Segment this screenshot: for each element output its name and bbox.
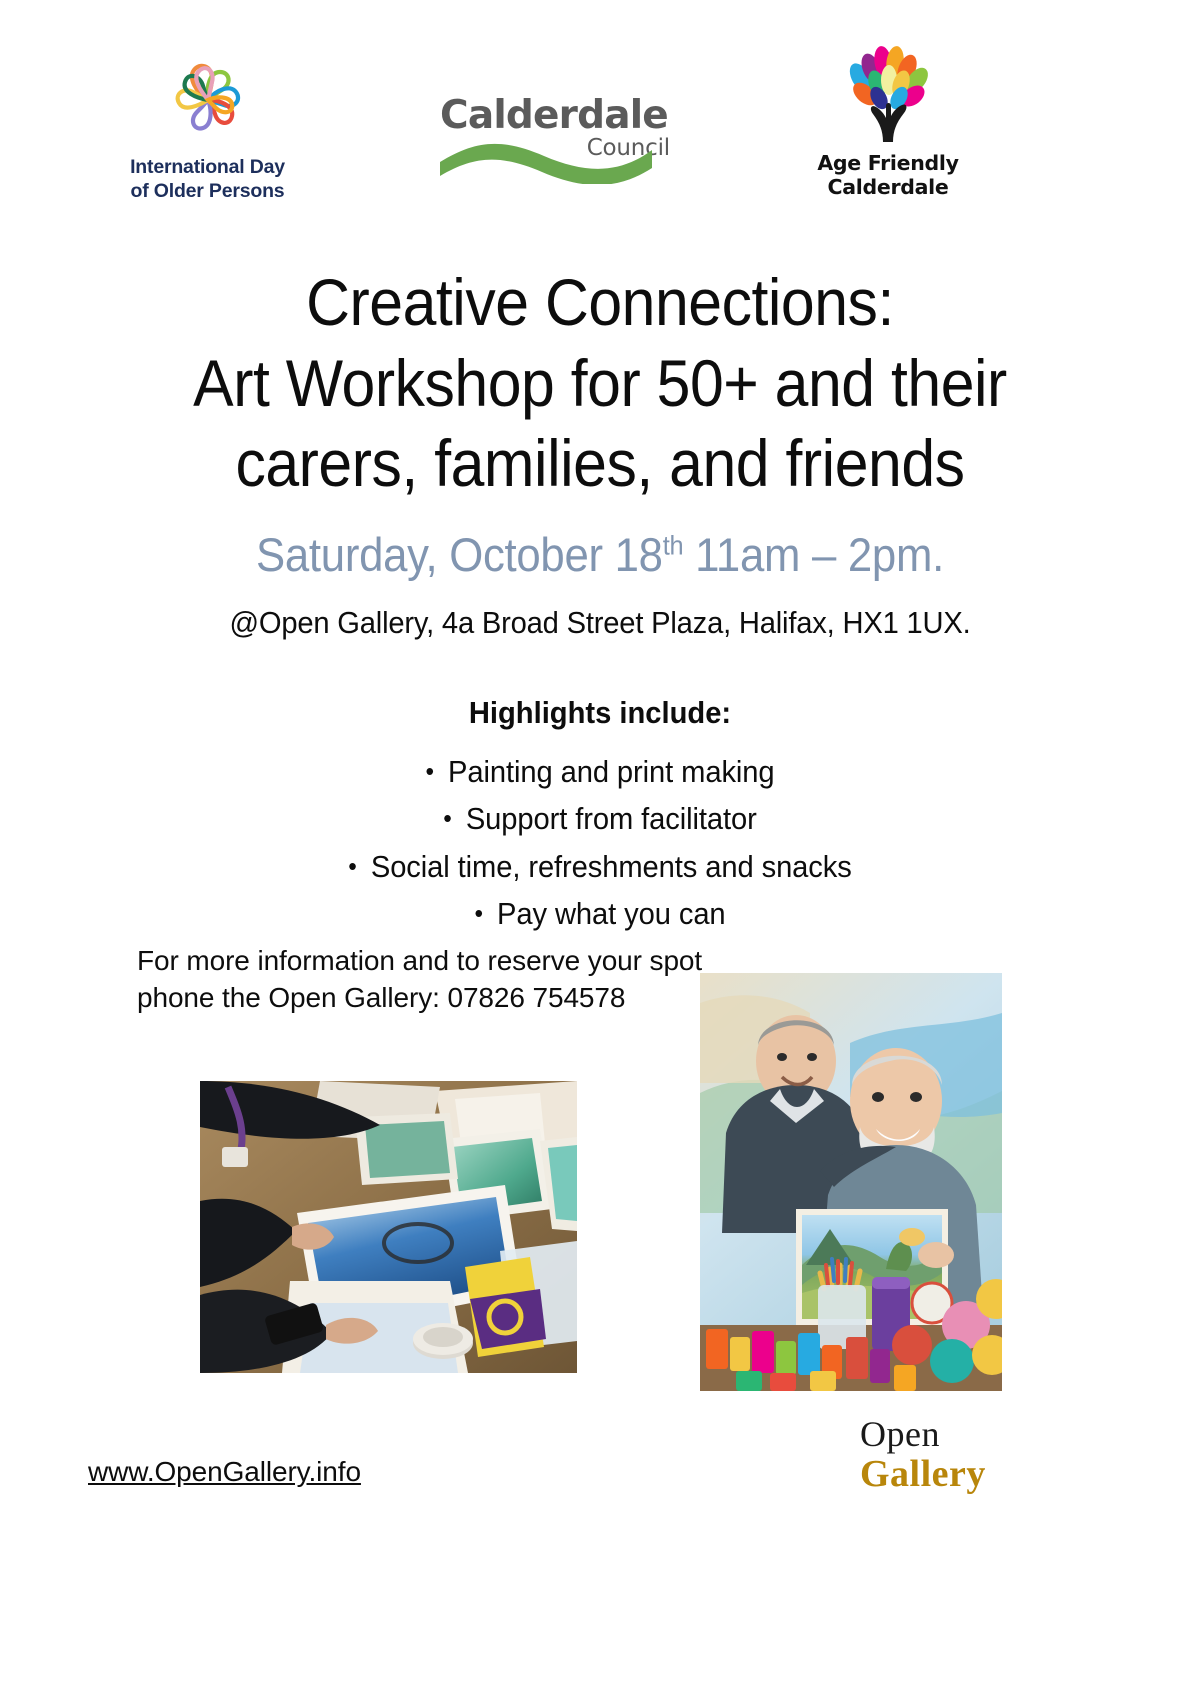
petal-flower-icon [158, 52, 258, 148]
event-dateline: Saturday, October 18th 11am – 2pm. [98, 527, 1102, 582]
logo-row: International Day of Older Persons Calde… [0, 44, 1200, 209]
highlights-heading: Highlights include: [92, 695, 1107, 731]
list-item: •Pay what you can [92, 890, 1107, 937]
title-line-1: Creative Connections: [103, 262, 1097, 343]
two-men-with-landscape-painting-photo [700, 973, 1002, 1391]
title-line-3: carers, families, and friends [103, 423, 1097, 504]
international-day-of-older-persons-logo: International Day of Older Persons [105, 52, 310, 204]
bullet-icon: • [348, 847, 356, 887]
list-item: •Support from facilitator [92, 795, 1107, 842]
list-item: •Painting and print making [92, 748, 1107, 795]
list-item-label: Pay what you can [497, 896, 726, 931]
contact-info: For more information and to reserve your… [137, 942, 737, 1016]
colorful-tree-icon [833, 44, 943, 148]
calderdale-council-logo: Calderdale Council [440, 96, 670, 161]
website-url-link[interactable]: www.OpenGallery.info [88, 1456, 361, 1488]
printmaking-workshop-photo [200, 1081, 577, 1373]
dateline-ordinal: th [663, 529, 684, 560]
event-venue-address: @Open Gallery, 4a Broad Street Plaza, Ha… [92, 605, 1107, 641]
list-item-label: Social time, refreshments and snacks [371, 849, 852, 884]
age-friendly-calderdale-logo: Age Friendly Calderdale [808, 44, 968, 199]
afc-label-line1: Age Friendly [808, 152, 968, 176]
page-title: Creative Connections: Art Workshop for 5… [103, 262, 1097, 504]
list-item-label: Painting and print making [448, 754, 774, 789]
bullet-icon: • [443, 799, 451, 839]
dateline-time: 11am – 2pm. [683, 528, 944, 581]
idop-label-line1: International Day [105, 156, 310, 180]
open-gallery-logo: Open Gallery [860, 1415, 1060, 1495]
afc-label-line2: Calderdale [808, 176, 968, 200]
open-gallery-word-open: Open [860, 1415, 1060, 1454]
idop-label-line2: of Older Persons [105, 180, 310, 204]
poster-root: International Day of Older Persons Calde… [0, 0, 1200, 1698]
title-line-2: Art Workshop for 50+ and their [103, 343, 1097, 424]
list-item: •Social time, refreshments and snacks [92, 843, 1107, 890]
highlights-section: Highlights include: •Painting and print … [60, 695, 1140, 938]
bullet-icon: • [474, 894, 482, 934]
green-swoosh-icon [440, 134, 652, 184]
open-gallery-word-gallery: Gallery [860, 1454, 1060, 1495]
contact-line-1: For more information and to reserve your… [137, 942, 737, 979]
dateline-date: Saturday, October 18 [256, 528, 663, 581]
bullet-icon: • [425, 752, 433, 792]
list-item-label: Support from facilitator [466, 801, 757, 836]
highlights-list: •Painting and print making •Support from… [60, 748, 1140, 938]
contact-line-2: phone the Open Gallery: 07826 754578 [137, 979, 737, 1016]
calderdale-wordmark: Calderdale [440, 96, 670, 135]
